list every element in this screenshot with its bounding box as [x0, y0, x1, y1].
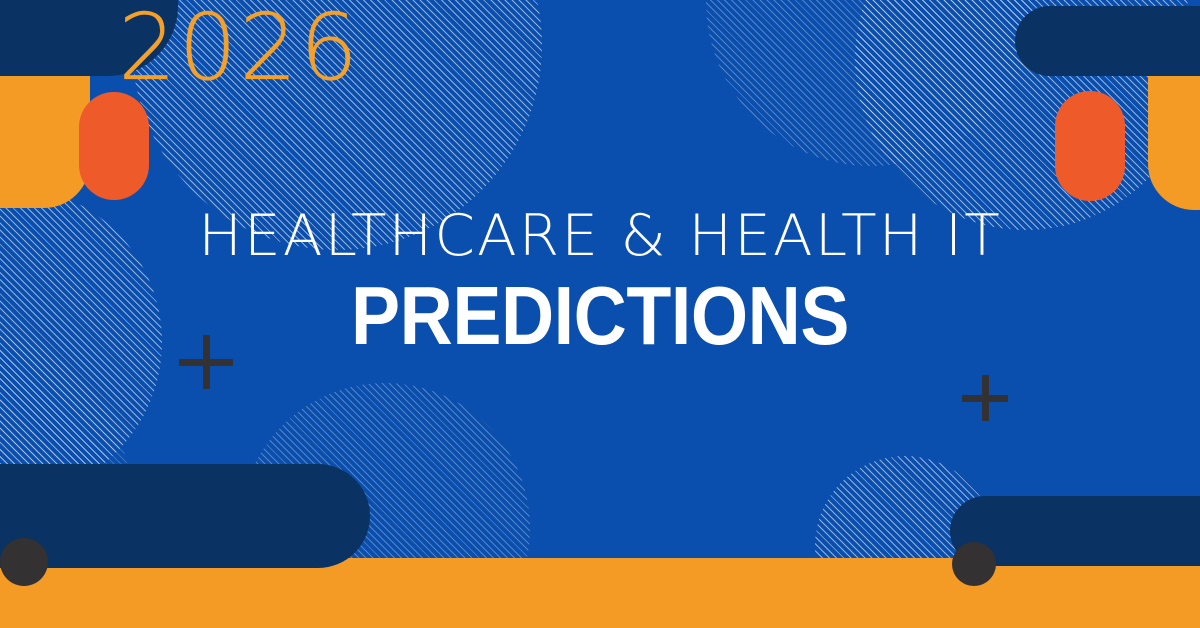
- orange-pill-top-right: [1055, 91, 1125, 201]
- amber-block-top-right: [1148, 62, 1200, 210]
- amber-block-top-left: [0, 60, 90, 208]
- headline-block: HEALTHCARE & HEALTH IT PREDICTIONS: [0, 208, 1200, 355]
- navy-pill-top-right: [1015, 6, 1200, 76]
- predictions-banner: 2026 HEALTHCARE & HEALTH IT PREDICTIONS: [0, 0, 1200, 628]
- plus-mark-right: [962, 375, 1008, 421]
- charcoal-dot-bottom-left: [0, 538, 48, 586]
- charcoal-dot-bottom-right: [952, 542, 996, 586]
- plus-mark-left: [179, 335, 233, 389]
- orange-pill-top-left: [79, 92, 149, 200]
- striped-circle-upper-center: [132, 0, 542, 250]
- navy-pill-bottom-left: [0, 464, 370, 568]
- amber-band-bottom: [0, 558, 1200, 628]
